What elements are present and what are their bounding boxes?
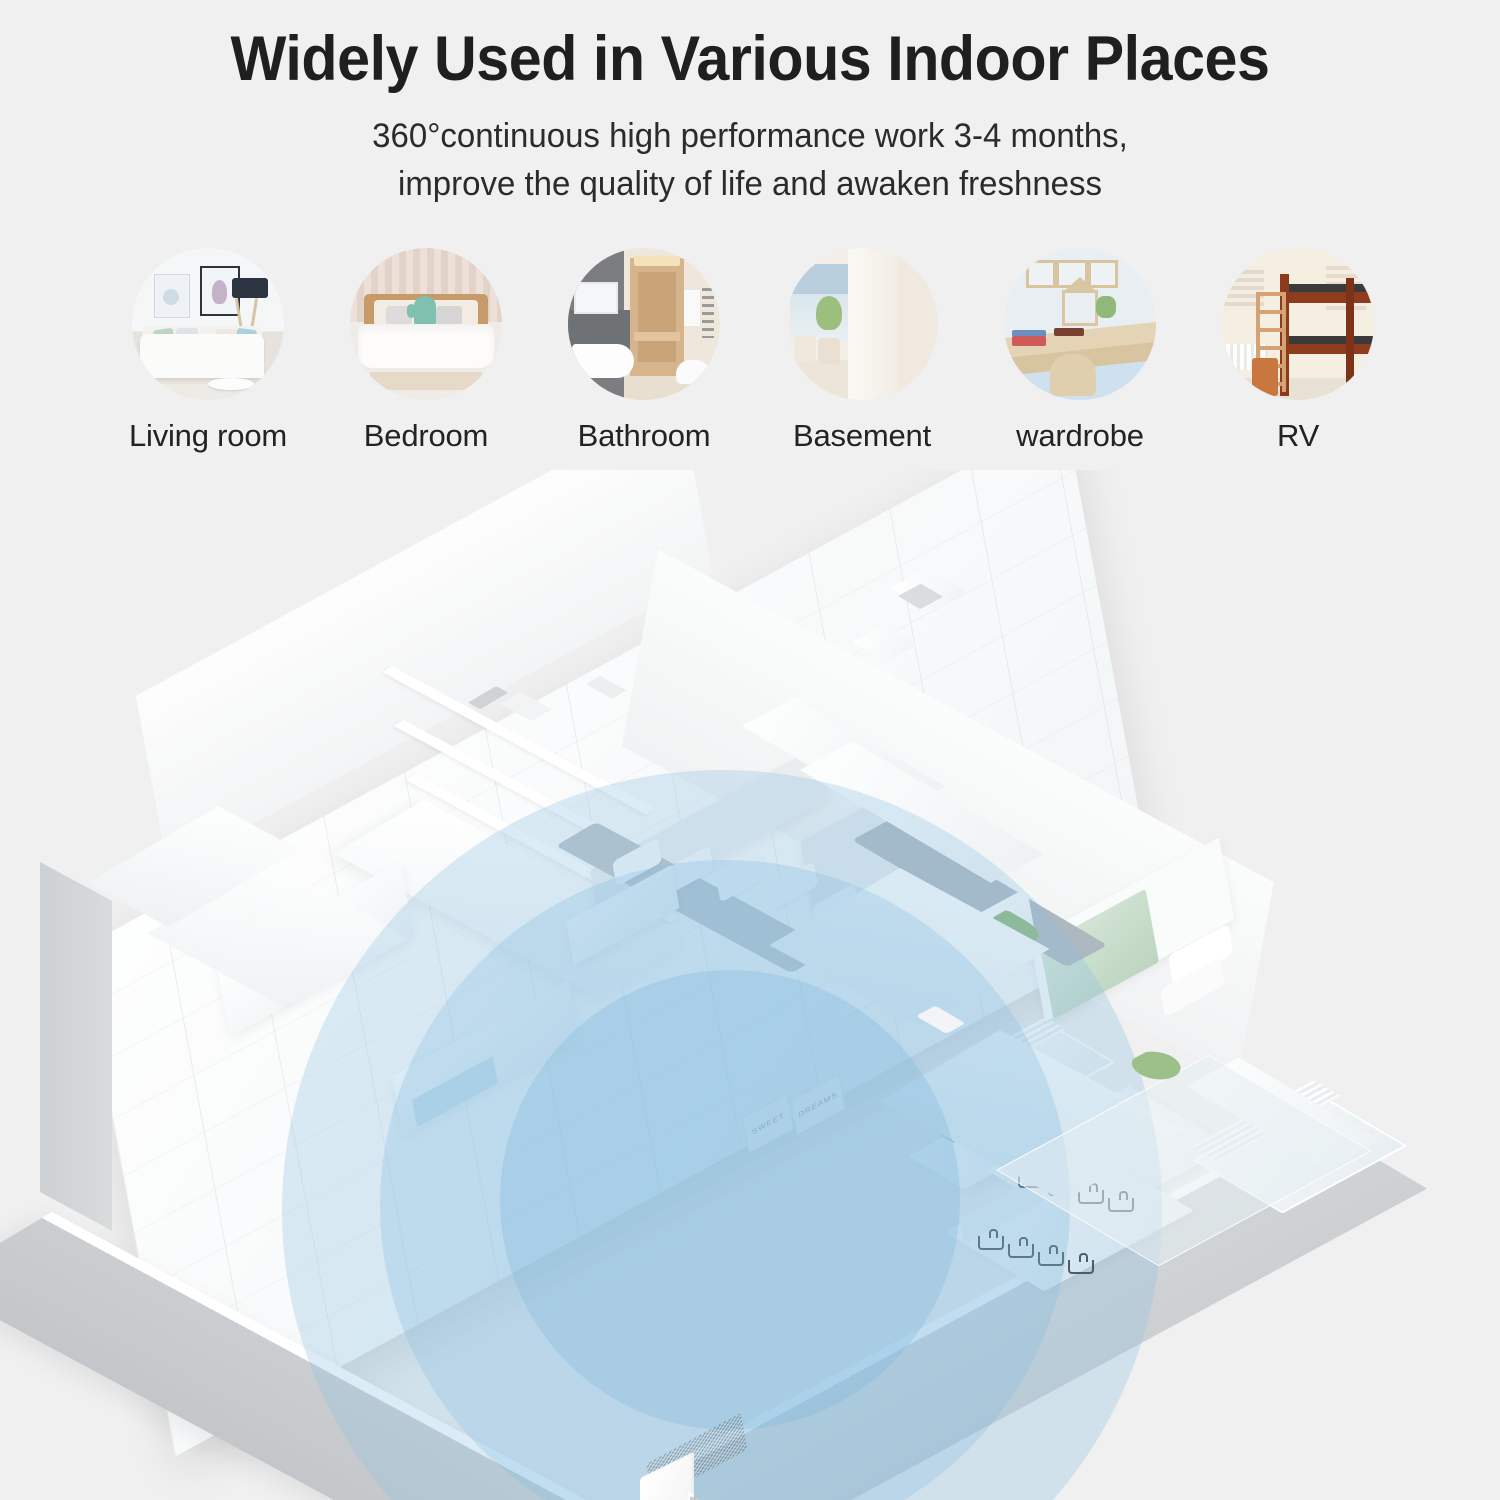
scene-item-wardrobe[interactable]: wardrobe	[980, 248, 1180, 454]
wall-art-dreams-text: DREAMS	[798, 1090, 839, 1119]
wardrobe-photo-icon	[1004, 248, 1156, 400]
header: Widely Used in Various Indoor Places 360…	[0, 0, 1500, 209]
scene-label-living-room: Living room	[129, 418, 287, 454]
hanger-icon	[1068, 1260, 1094, 1274]
isometric-floorplan: SWEET DREAMS	[0, 470, 1500, 1500]
hanger-icon	[1038, 1252, 1064, 1266]
scene-item-basement[interactable]: Basement	[762, 248, 962, 454]
purifier-filter-panel	[690, 1496, 796, 1500]
scene-item-bedroom[interactable]: Bedroom	[326, 248, 526, 454]
scene-label-bathroom: Bathroom	[578, 418, 711, 454]
scene-label-bedroom: Bedroom	[364, 418, 488, 454]
subtitle-line-2: improve the quality of life and awaken f…	[398, 165, 1102, 203]
air-purifier	[636, 1460, 816, 1500]
scene-label-wardrobe: wardrobe	[1016, 418, 1144, 454]
rv-photo-icon	[1222, 248, 1374, 400]
living-room-photo-icon	[132, 248, 284, 400]
hanger-icon	[978, 1236, 1004, 1250]
scene-label-basement: Basement	[793, 418, 931, 454]
page-title: Widely Used in Various Indoor Places	[45, 0, 1455, 92]
exterior-wall-left	[40, 862, 112, 1231]
hanger-icon	[1008, 1244, 1034, 1258]
page-subtitle: 360°continuous high performance work 3-4…	[23, 92, 1478, 209]
bathroom-photo-icon	[568, 248, 720, 400]
scene-label-rv: RV	[1277, 418, 1319, 454]
subtitle-line-1: 360°continuous high performance work 3-4…	[372, 117, 1128, 155]
product-feature-page: Widely Used in Various Indoor Places 360…	[0, 0, 1500, 1500]
scene-item-living-room[interactable]: Living room	[108, 248, 308, 454]
bedroom-photo-icon	[350, 248, 502, 400]
scene-item-bathroom[interactable]: Bathroom	[544, 248, 744, 454]
basement-photo-icon	[786, 248, 938, 400]
scene-item-rv[interactable]: RV	[1198, 248, 1398, 454]
wall-art-sweet-text: SWEET	[751, 1111, 785, 1136]
scene-list: Living room Bedroom	[108, 248, 1398, 454]
